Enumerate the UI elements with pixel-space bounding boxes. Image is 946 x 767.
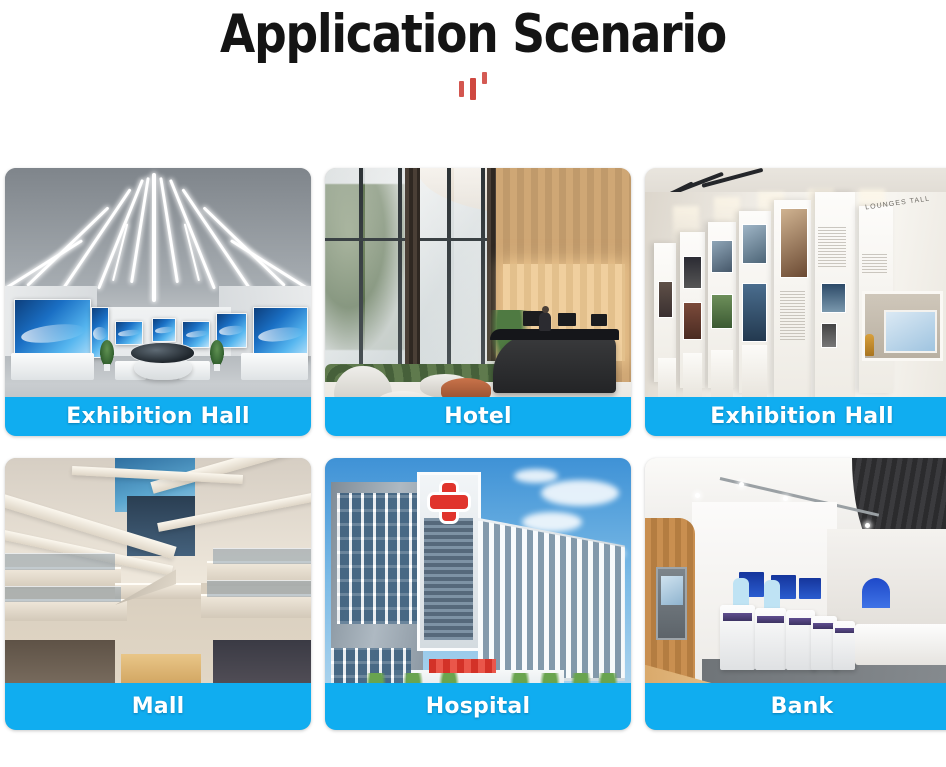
page-header: Application Scenario — [0, 0, 946, 110]
card-caption: Bank — [645, 683, 946, 730]
scenario-card-hotel[interactable]: Hotel — [325, 168, 631, 436]
accent-bar-icon — [459, 81, 464, 97]
scenario-card-bank[interactable]: Bank — [645, 458, 946, 730]
wall-atm-icon — [656, 567, 687, 640]
card-label: Mall — [132, 694, 185, 719]
card-caption: Hospital — [325, 683, 631, 730]
scenario-card-grid: Exhibition Hall — [0, 168, 946, 730]
scenario-card-exhibition-hall-showroom[interactable]: Exhibition Hall — [5, 168, 311, 436]
card-label: Hotel — [444, 404, 512, 429]
scenario-card-exhibition-hall-gallery[interactable]: LOUNGES TALL Exhibition Hall — [645, 168, 946, 436]
card-label: Bank — [771, 694, 834, 719]
card-caption: Exhibition Hall — [645, 397, 946, 436]
medical-cross-icon — [429, 482, 469, 522]
card-caption: Exhibition Hall — [5, 397, 311, 436]
card-label: Exhibition Hall — [710, 404, 894, 429]
card-caption: Hotel — [325, 397, 631, 436]
application-scenario-page: Application Scenario — [0, 0, 946, 767]
bank-logo-icon — [862, 578, 890, 608]
card-label: Hospital — [426, 694, 530, 719]
gallery-wall-image: LOUNGES TALL — [645, 168, 946, 436]
decorative-accent-mark — [0, 68, 946, 110]
accent-bar-icon — [470, 78, 476, 100]
card-label: Exhibition Hall — [66, 404, 250, 429]
card-caption: Mall — [5, 683, 311, 730]
showroom-image — [5, 168, 311, 436]
page-title: Application Scenario — [66, 2, 880, 68]
scenario-card-hospital[interactable]: Hospital — [325, 458, 631, 730]
accent-bar-icon — [482, 72, 487, 84]
hotel-lobby-image — [325, 168, 631, 436]
scenario-card-mall[interactable]: Mall — [5, 458, 311, 730]
